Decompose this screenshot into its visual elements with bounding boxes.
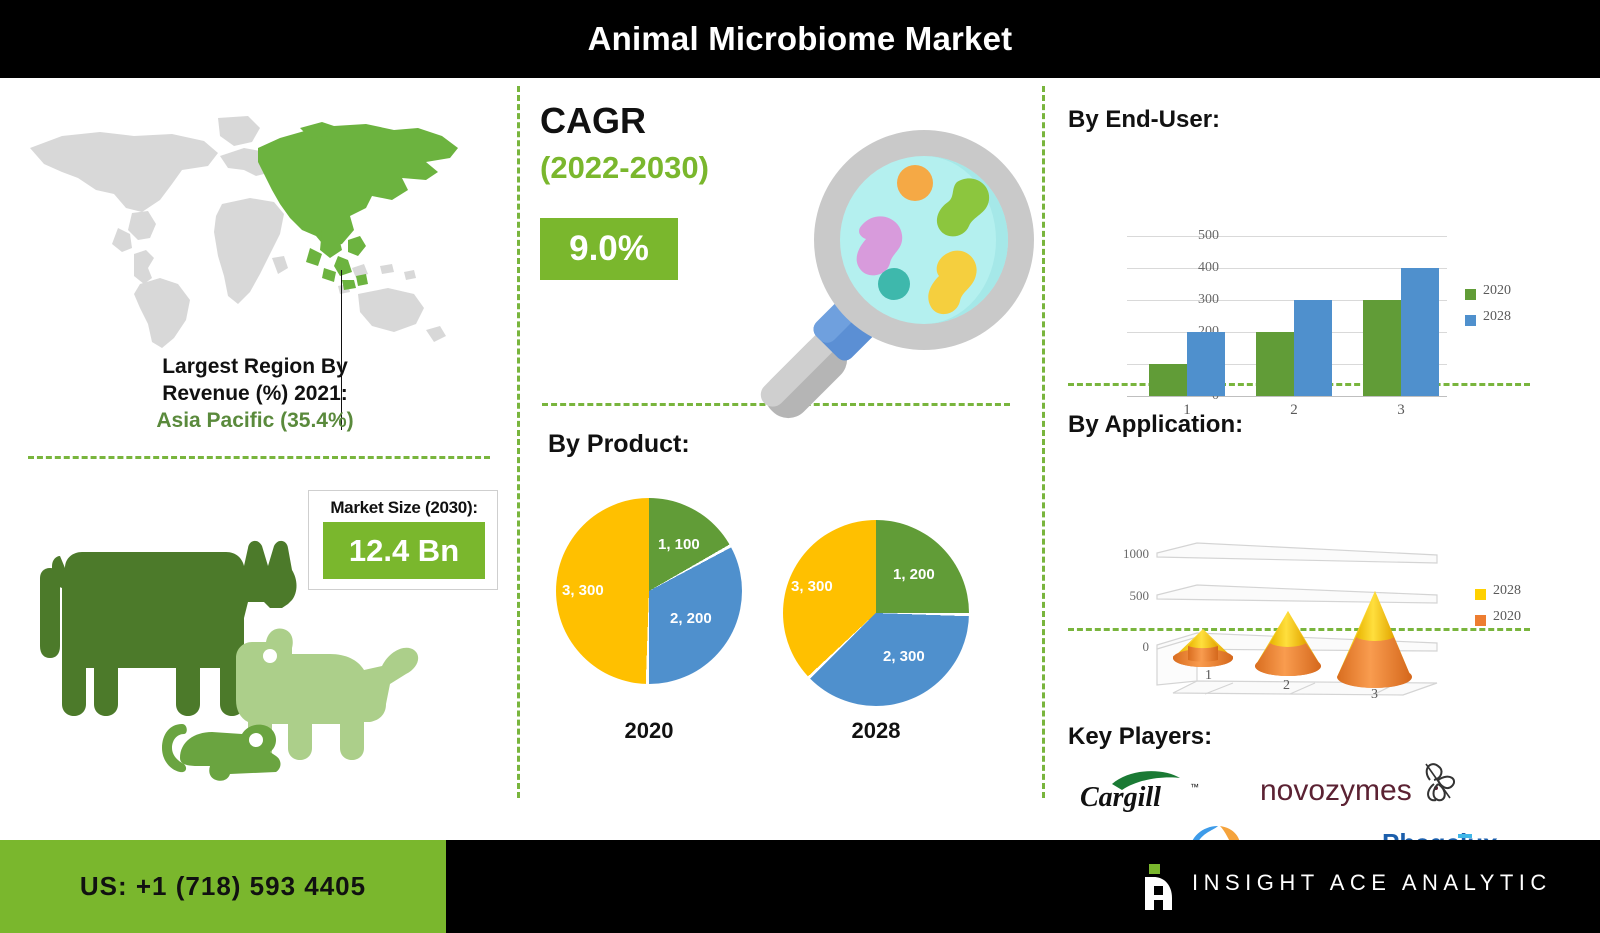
svg-text:0: 0: [1143, 639, 1150, 654]
bar-2028-cat1: [1187, 332, 1225, 396]
region-caption-line2: Revenue (%) 2021:: [20, 380, 490, 407]
mouse-icon: [162, 724, 281, 781]
brand-name: INSIGHT ACE ANALYTIC: [1192, 870, 1552, 896]
pie-2028-slice-label-2: 2, 300: [883, 648, 925, 665]
bar-plot-area: [1127, 236, 1447, 396]
bar-2020-cat2: [1256, 332, 1294, 396]
cone-chart-application: 1000 500 0: [1085, 533, 1545, 698]
key-players-title: Key Players:: [1068, 723, 1212, 751]
pie-2020-slice-label-3: 3, 300: [562, 582, 604, 599]
bar-2020-cat3: [1363, 300, 1401, 396]
by-end-user-title: By End-User:: [1068, 106, 1220, 134]
body-area: Largest Region By Revenue (%) 2021: Asia…: [0, 78, 1600, 818]
svg-text:1: 1: [1205, 668, 1212, 683]
novozymes-wordmark: novozymes: [1260, 774, 1412, 807]
cagr-value-badge: 9.0%: [540, 218, 678, 280]
market-size-label: Market Size (2030):: [309, 498, 499, 518]
region-caption-line1: Largest Region By: [20, 353, 490, 380]
by-product-title: By Product:: [548, 430, 690, 459]
legend-label-2020: 2020: [1493, 609, 1521, 625]
bar-2028-cat3: [1401, 268, 1439, 396]
region-value: Asia Pacific (35.4%): [20, 407, 490, 434]
world-map-icon: [22, 108, 492, 358]
footer-phone-panel: US: +1 (718) 593 4405: [0, 840, 446, 933]
svg-text:2: 2: [1283, 678, 1290, 693]
pie-chart-2028: 1, 200 2, 300 3, 300: [783, 520, 969, 706]
pie-2028-slice-label-1: 1, 200: [893, 566, 935, 583]
x-tick-3: 3: [1371, 402, 1431, 419]
legend-label-2028: 2028: [1493, 583, 1521, 599]
svg-text:500: 500: [1130, 588, 1150, 603]
divider-middle-right: [1042, 86, 1045, 798]
legend-label-2020: 2020: [1483, 283, 1511, 299]
market-size-value: 12.4 Bn: [323, 522, 485, 579]
pie-2020-slice-label-2: 2, 200: [670, 610, 712, 627]
x-tick-2: 2: [1264, 402, 1324, 419]
pie-2028-year: 2028: [783, 718, 969, 744]
cargill-wordmark: Cargill: [1080, 782, 1161, 813]
cagr-years: (2022-2030): [540, 150, 709, 186]
legend-swatch-2028: [1465, 315, 1476, 326]
bar-2020-cat1: [1149, 364, 1187, 396]
legend-swatch-2028: [1475, 589, 1486, 600]
svg-text:3: 3: [1371, 687, 1378, 698]
infographic-page: Animal Microbiome Market: [0, 0, 1600, 933]
pie-2020-year: 2020: [556, 718, 742, 744]
page-title: Animal Microbiome Market: [0, 0, 1600, 78]
novozymes-logo: novozymes: [1258, 758, 1458, 814]
svg-text:™: ™: [1190, 782, 1199, 792]
pie-2028-slice-label-3: 3, 300: [791, 578, 833, 595]
by-application-title: By Application:: [1068, 411, 1243, 439]
cargill-logo: Cargill ™: [1078, 766, 1208, 814]
market-size-box: Market Size (2030): 12.4 Bn: [308, 490, 498, 590]
magnifying-glass-microbes-icon: [752, 118, 1037, 448]
svg-text:1000: 1000: [1123, 546, 1149, 561]
bar-2028-cat2: [1294, 300, 1332, 396]
legend-swatch-2020: [1475, 615, 1486, 626]
footer-phone: US: +1 (718) 593 4405: [0, 840, 446, 933]
divider-left-horizontal: [28, 456, 490, 459]
largest-region-caption: Largest Region By Revenue (%) 2021: Asia…: [20, 353, 490, 434]
divider-left-middle: [517, 86, 520, 798]
pie-chart-2020: 1, 100 2, 200 3, 300: [556, 498, 742, 684]
cagr-label: CAGR: [540, 100, 646, 142]
header-bar: Animal Microbiome Market: [0, 0, 1600, 78]
insight-ace-a-logo: [1140, 864, 1184, 910]
legend-swatch-2020: [1465, 289, 1476, 300]
legend-label-2028: 2028: [1483, 309, 1511, 325]
footer-bar: US: +1 (718) 593 4405 INSIGHT ACE ANALYT…: [0, 840, 1600, 933]
pie-2020-slice-label-1: 1, 100: [658, 536, 700, 553]
